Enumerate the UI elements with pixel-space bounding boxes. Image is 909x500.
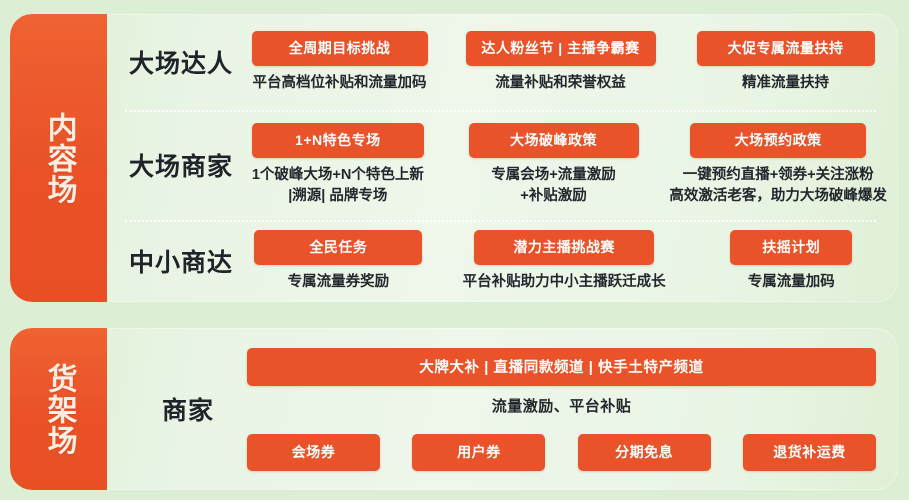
row-big-event-merchants: 大场商家 1+N特色专场 1个破峰大场+N个特色上新 |溯源| 品牌专场 大场破… xyxy=(107,110,898,220)
policy-cell: 全周期目标挑战 平台高档位补贴和流量加码 xyxy=(237,31,442,94)
row-title-big-event-creators: 大场达人 xyxy=(129,44,233,80)
policy-description-line2: 高效激活老客，助力大场破峰爆发 xyxy=(669,186,887,207)
content-section-rail: 内容场 xyxy=(10,14,107,302)
shelf-chip-interest-free-installment[interactable]: 分期免息 xyxy=(578,434,711,471)
policy-cell: 潜力主播挑战赛 平台补贴助力中小主播跃迁成长 xyxy=(448,230,681,293)
policy-pill[interactable]: 达人粉丝节 | 主播争霸赛 xyxy=(466,31,656,66)
shelf-section-rail-label: 货架场 xyxy=(41,363,75,456)
policy-pill[interactable]: 大场破峰政策 xyxy=(469,123,639,158)
policy-cell: 1+N特色专场 1个破峰大场+N个特色上新 |溯源| 品牌专场 xyxy=(237,123,439,206)
content-section-card: 内容场 大场达人 全周期目标挑战 平台高档位补贴和流量加码 达人粉丝节 | 主播… xyxy=(10,14,898,302)
policy-pill[interactable]: 全周期目标挑战 xyxy=(252,31,428,66)
policy-pill[interactable]: 全民任务 xyxy=(254,230,422,265)
content-section-body: 大场达人 全周期目标挑战 平台高档位补贴和流量加码 达人粉丝节 | 主播争霸赛 … xyxy=(107,14,898,302)
shelf-chip-return-shipping-subsidy[interactable]: 退货补运费 xyxy=(743,434,876,471)
row-cells-2: 1+N特色专场 1个破峰大场+N个特色上新 |溯源| 品牌专场 大场破峰政策 专… xyxy=(237,110,888,220)
policy-cell: 大场预约政策 一键预约直播+领券+关注涨粉 高效激活老客，助力大场破峰爆发 xyxy=(668,123,888,206)
policy-description-line2: |溯源| 品牌专场 xyxy=(288,186,387,207)
policy-description: 1个破峰大场+N个特色上新 xyxy=(252,165,424,186)
policy-cell: 全民任务 专属流量券奖励 xyxy=(237,230,440,293)
policy-cell: 大场破峰政策 专属会场+流量激励 +补贴激励 xyxy=(453,123,655,206)
row-big-event-creators: 大场达人 全周期目标挑战 平台高档位补贴和流量加码 达人粉丝节 | 主播争霸赛 … xyxy=(107,14,898,110)
policy-pill[interactable]: 潜力主播挑战赛 xyxy=(474,230,654,265)
policy-pill[interactable]: 扶摇计划 xyxy=(730,230,852,265)
shelf-main-column: 大牌大补 | 直播同款频道 | 快手土特产频道 流量激励、平台补贴 会场券 用户… xyxy=(247,328,876,490)
policy-cell: 达人粉丝节 | 主播争霸赛 流量补贴和荣誉权益 xyxy=(458,31,663,94)
shelf-chip-venue-coupon[interactable]: 会场券 xyxy=(247,434,380,471)
policy-cell: 扶摇计划 专属流量加码 xyxy=(694,230,888,293)
row-title-small-medium-merchants: 中小商达 xyxy=(129,243,233,279)
policy-cell: 大促专属流量扶持 精准流量扶持 xyxy=(683,31,888,94)
shelf-section-card: 货架场 商家 大牌大补 | 直播同款频道 | 快手土特产频道 流量激励、平台补贴… xyxy=(10,328,898,490)
poster-canvas: 内容场 大场达人 全周期目标挑战 平台高档位补贴和流量加码 达人粉丝节 | 主播… xyxy=(0,0,909,500)
policy-description: 流量补贴和荣誉权益 xyxy=(495,73,626,94)
shelf-banner-description: 流量激励、平台补贴 xyxy=(492,395,632,416)
policy-pill[interactable]: 大场预约政策 xyxy=(690,123,866,158)
shelf-banner-pill[interactable]: 大牌大补 | 直播同款频道 | 快手土特产频道 xyxy=(247,348,876,386)
shelf-section-rail: 货架场 xyxy=(10,328,107,490)
policy-description: 专属流量加码 xyxy=(748,272,835,293)
row-small-medium-merchants: 中小商达 全民任务 专属流量券奖励 潜力主播挑战赛 平台补贴助力中小主播跃迁成长… xyxy=(107,220,898,302)
policy-pill[interactable]: 大促专属流量扶持 xyxy=(697,31,875,66)
shelf-section-body: 商家 大牌大补 | 直播同款频道 | 快手土特产频道 流量激励、平台补贴 会场券… xyxy=(107,328,898,490)
policy-description: 精准流量扶持 xyxy=(742,73,829,94)
row-cells-3: 全民任务 专属流量券奖励 潜力主播挑战赛 平台补贴助力中小主播跃迁成长 扶摇计划… xyxy=(237,220,888,302)
policy-description: 专属流量券奖励 xyxy=(288,272,390,293)
shelf-chip-row: 会场券 用户券 分期免息 退货补运费 xyxy=(247,434,876,471)
shelf-chip-user-coupon[interactable]: 用户券 xyxy=(412,434,545,471)
policy-description: 平台高档位补贴和流量加码 xyxy=(253,73,427,94)
policy-description-line2: +补贴激励 xyxy=(520,186,586,207)
policy-description: 一键预约直播+领券+关注涨粉 xyxy=(683,165,874,186)
policy-description: 专属会场+流量激励 xyxy=(491,165,615,186)
policy-description: 平台补贴助力中小主播跃迁成长 xyxy=(463,272,666,293)
content-section-rail-label: 内容场 xyxy=(41,112,75,205)
row-title-big-event-merchants: 大场商家 xyxy=(129,147,233,183)
policy-pill[interactable]: 1+N特色专场 xyxy=(252,123,424,158)
row-cells-1: 全周期目标挑战 平台高档位补贴和流量加码 达人粉丝节 | 主播争霸赛 流量补贴和… xyxy=(237,14,888,110)
shelf-row-title: 商家 xyxy=(162,391,214,427)
